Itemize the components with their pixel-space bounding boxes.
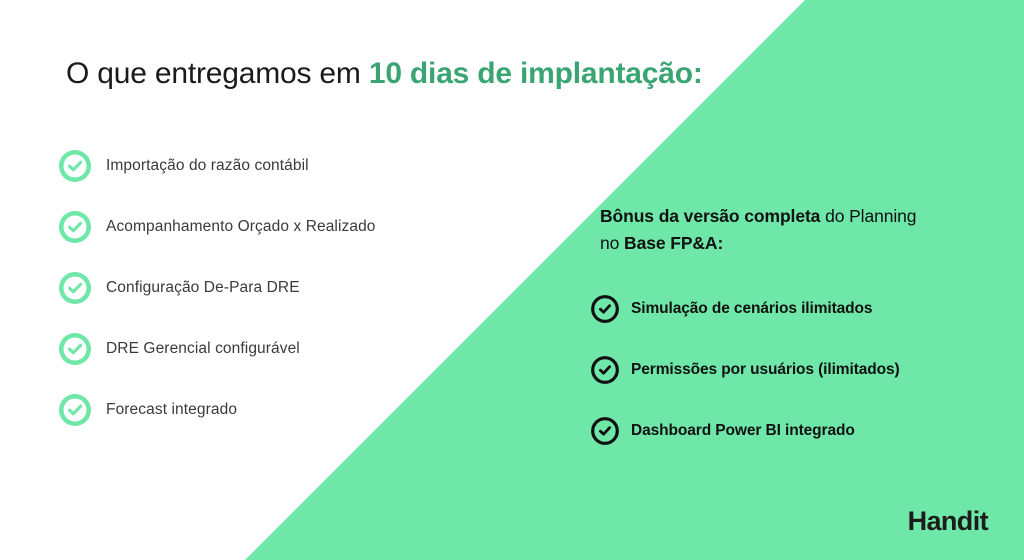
list-item: Configuração De-Para DRE [58, 270, 478, 306]
list-item: Importação do razão contábil [58, 148, 478, 184]
delivery-checklist: Importação do razão contábil Acompanhame… [58, 148, 478, 428]
title-accent-text: 10 dias de implantação: [369, 57, 703, 90]
list-item: Permissões por usuários (ilimitados) [591, 356, 991, 384]
check-circle-icon [591, 356, 619, 384]
check-circle-icon [58, 393, 92, 427]
list-item: Dashboard Power BI integrado [591, 417, 991, 445]
list-item-label: Forecast integrado [106, 401, 237, 419]
title-plain-text: O que entregamos em [66, 57, 369, 90]
slide-canvas: O que entregamos em 10 dias de implantaç… [0, 0, 1024, 560]
list-item: DRE Gerencial configurável [58, 331, 478, 367]
handit-logo: Handit [908, 506, 988, 537]
list-item-label: Simulação de cenários ilimitados [631, 300, 872, 318]
bonus-heading-bold-2: Base FP&A: [624, 233, 723, 253]
list-item-label: Importação do razão contábil [106, 157, 309, 175]
list-item-label: Acompanhamento Orçado x Realizado [106, 218, 376, 236]
list-item-label: DRE Gerencial configurável [106, 340, 300, 358]
check-circle-icon [591, 417, 619, 445]
check-circle-icon [58, 332, 92, 366]
check-circle-icon [58, 271, 92, 305]
list-item-label: Configuração De-Para DRE [106, 279, 300, 297]
bonus-heading: Bônus da versão completa do Planning no … [600, 203, 940, 257]
list-item: Forecast integrado [58, 392, 478, 428]
check-circle-icon [58, 210, 92, 244]
bonus-heading-bold-1: Bônus da versão completa [600, 206, 820, 226]
list-item-label: Permissões por usuários (ilimitados) [631, 361, 900, 379]
bonus-checklist: Simulação de cenários ilimitados Permiss… [591, 295, 991, 445]
check-circle-icon [58, 149, 92, 183]
page-title: O que entregamos em 10 dias de implantaç… [66, 54, 703, 94]
list-item: Acompanhamento Orçado x Realizado [58, 209, 478, 245]
list-item: Simulação de cenários ilimitados [591, 295, 991, 323]
check-circle-icon [591, 295, 619, 323]
list-item-label: Dashboard Power BI integrado [631, 422, 855, 440]
